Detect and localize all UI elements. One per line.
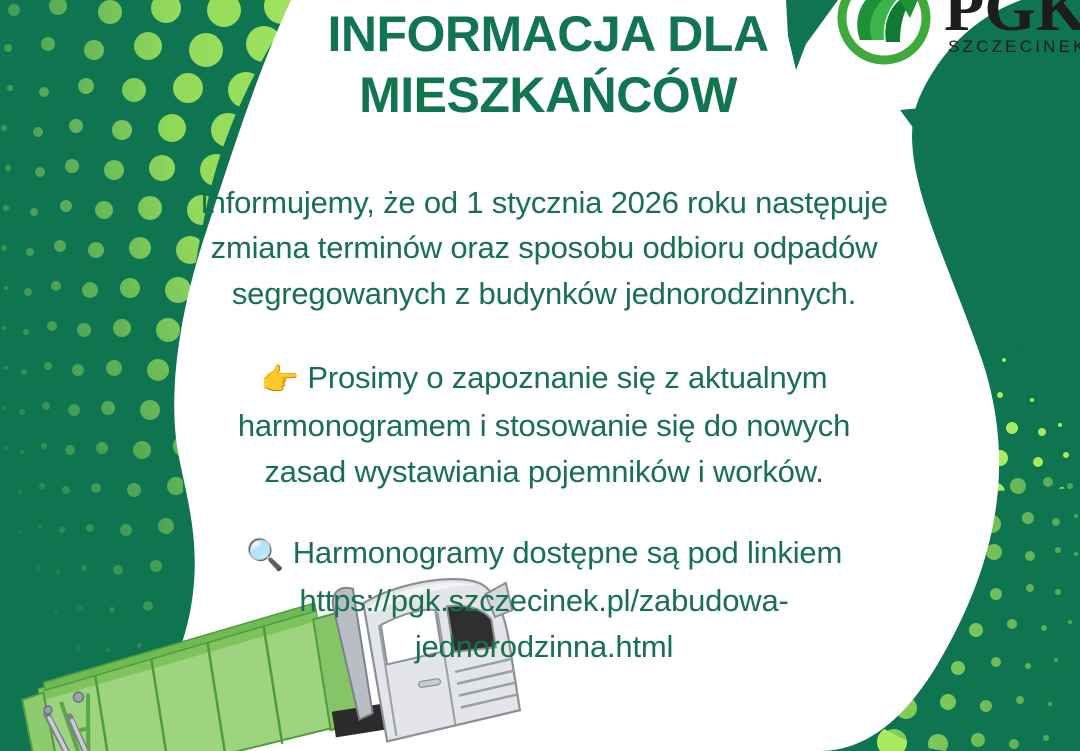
- paragraph-intro-line-2: zmiana terminów oraz sposobu odbioru odp…: [130, 225, 958, 270]
- page-title-line-2: MIESZKAŃCÓW: [248, 65, 848, 126]
- page-title-line-1: INFORMACJA DLA: [248, 4, 848, 65]
- paragraph-intro-line-3: segregowanych z budynków jednorodzinnych…: [130, 271, 958, 316]
- logo-subtitle: SZCZECINEK: [948, 37, 1080, 56]
- paragraph-request-line-1-text: Prosimy o zapoznanie się z aktualnym: [307, 360, 827, 395]
- schedule-url-line-2[interactable]: jednorodzinna.html: [130, 624, 958, 669]
- paragraph-link-line-1-text: Harmonogramy dostępne są pod linkiem: [293, 535, 842, 570]
- paragraph-intro-line-1: Informujemy, że od 1 stycznia 2026 roku …: [130, 180, 958, 225]
- paragraph-intro: Informujemy, że od 1 stycznia 2026 roku …: [130, 180, 958, 316]
- magnifying-glass-emoji: 🔍: [246, 533, 284, 578]
- poster-canvas: PGK SZCZECINEK INFORMACJA DLA MIESZKAŃCÓ…: [0, 0, 1080, 751]
- paragraph-request: 👉 Prosimy o zapoznanie się z aktualnym h…: [130, 355, 958, 494]
- paragraph-link-line-1: 🔍 Harmonogramy dostępne są pod linkiem: [130, 530, 958, 578]
- page-title: INFORMACJA DLA MIESZKAŃCÓW: [248, 4, 848, 126]
- paragraph-request-line-3: zasad wystawiania pojemników i worków.: [130, 449, 958, 494]
- paragraph-request-line-1: 👉 Prosimy o zapoznanie się z aktualnym: [130, 355, 958, 403]
- schedule-url-line-1[interactable]: https://pgk.szczecinek.pl/zabudowa-: [130, 578, 958, 623]
- leaf-recycle-icon: [842, 0, 926, 60]
- paragraph-link: 🔍 Harmonogramy dostępne są pod linkiem h…: [130, 530, 958, 669]
- pointing-right-emoji: 👉: [261, 358, 299, 403]
- paragraph-request-line-2: harmonogramem i stosowanie się do nowych: [130, 403, 958, 448]
